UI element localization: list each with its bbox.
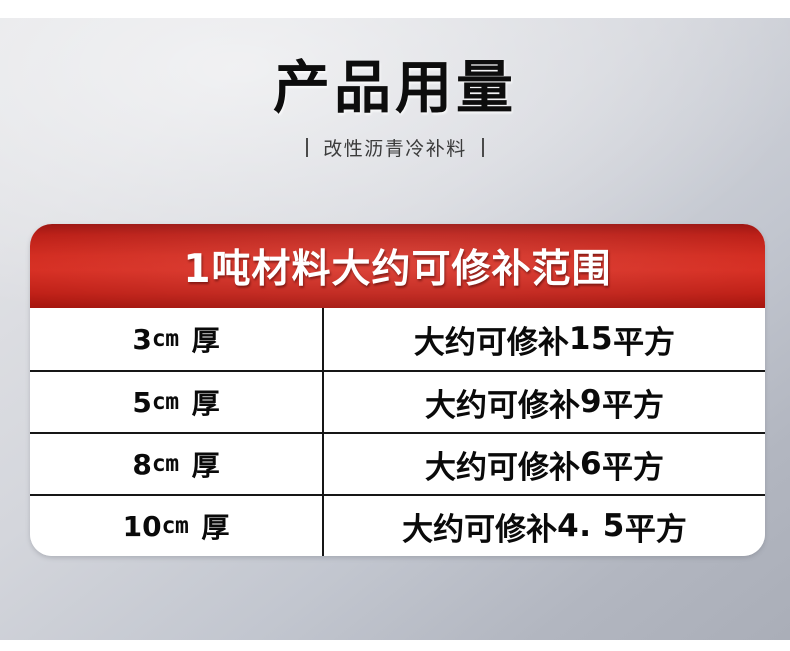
cell-coverage: 大约可修补15平方 bbox=[324, 308, 765, 370]
thickness-value: 8 bbox=[132, 448, 151, 481]
usage-table-banner-title: 1吨材料大约可修补范围 bbox=[183, 238, 611, 294]
thickness-unit: cm bbox=[152, 389, 179, 415]
table-row: 10cm厚 大约可修补4. 5平方 bbox=[30, 494, 765, 556]
thickness-unit: cm bbox=[152, 451, 179, 477]
page-header: 产品用量 改性沥青冷补料 bbox=[0, 58, 790, 161]
coverage-prefix: 大约可修补 bbox=[414, 317, 569, 362]
coverage-unit: 平方 bbox=[625, 504, 687, 549]
usage-table-banner: 1吨材料大约可修补范围 bbox=[30, 224, 765, 308]
table-row: 8cm厚 大约可修补6平方 bbox=[30, 432, 765, 494]
table-row: 3cm厚 大约可修补15平方 bbox=[30, 308, 765, 370]
usage-table: 3cm厚 大约可修补15平方 5cm厚 大约可修补9平方 8cm厚 bbox=[30, 308, 765, 556]
coverage-amount: 15 bbox=[569, 321, 613, 357]
coverage-unit: 平方 bbox=[602, 442, 664, 487]
cell-thickness: 10cm厚 bbox=[30, 496, 322, 556]
coverage-unit: 平方 bbox=[602, 380, 664, 425]
subtitle-right-bar-icon bbox=[482, 138, 484, 157]
coverage-amount: 4. 5 bbox=[557, 508, 625, 544]
cell-thickness: 3cm厚 bbox=[30, 308, 322, 370]
thickness-suffix: 厚 bbox=[192, 319, 220, 359]
thickness-suffix: 厚 bbox=[192, 382, 220, 422]
cell-coverage: 大约可修补9平方 bbox=[324, 372, 765, 432]
thickness-suffix: 厚 bbox=[201, 506, 229, 546]
page-title: 产品用量 bbox=[0, 58, 790, 120]
page-subtitle: 改性沥青冷补料 bbox=[323, 134, 467, 161]
cell-thickness: 5cm厚 bbox=[30, 372, 322, 432]
coverage-prefix: 大约可修补 bbox=[425, 442, 580, 487]
coverage-prefix: 大约可修补 bbox=[402, 504, 557, 549]
thickness-unit: cm bbox=[152, 326, 179, 352]
subtitle-left-bar-icon bbox=[306, 138, 308, 157]
cell-coverage: 大约可修补4. 5平方 bbox=[324, 496, 765, 556]
thickness-unit: cm bbox=[162, 513, 189, 539]
thickness-suffix: 厚 bbox=[192, 444, 220, 484]
thickness-value: 10 bbox=[123, 510, 162, 543]
cell-coverage: 大约可修补6平方 bbox=[324, 434, 765, 494]
coverage-prefix: 大约可修补 bbox=[425, 380, 580, 425]
cell-thickness: 8cm厚 bbox=[30, 434, 322, 494]
thickness-value: 5 bbox=[132, 386, 151, 419]
product-usage-infographic: 产品用量 改性沥青冷补料 1吨材料大约可修补范围 3cm厚 大约可修补15平方 bbox=[0, 0, 790, 651]
subtitle-row: 改性沥青冷补料 bbox=[0, 134, 790, 161]
thickness-value: 3 bbox=[132, 323, 151, 356]
coverage-amount: 9 bbox=[580, 384, 602, 420]
coverage-amount: 6 bbox=[580, 446, 602, 482]
coverage-unit: 平方 bbox=[613, 317, 675, 362]
table-row: 5cm厚 大约可修补9平方 bbox=[30, 370, 765, 432]
usage-table-card: 1吨材料大约可修补范围 3cm厚 大约可修补15平方 5cm厚 大约可修补9平方 bbox=[30, 224, 765, 556]
